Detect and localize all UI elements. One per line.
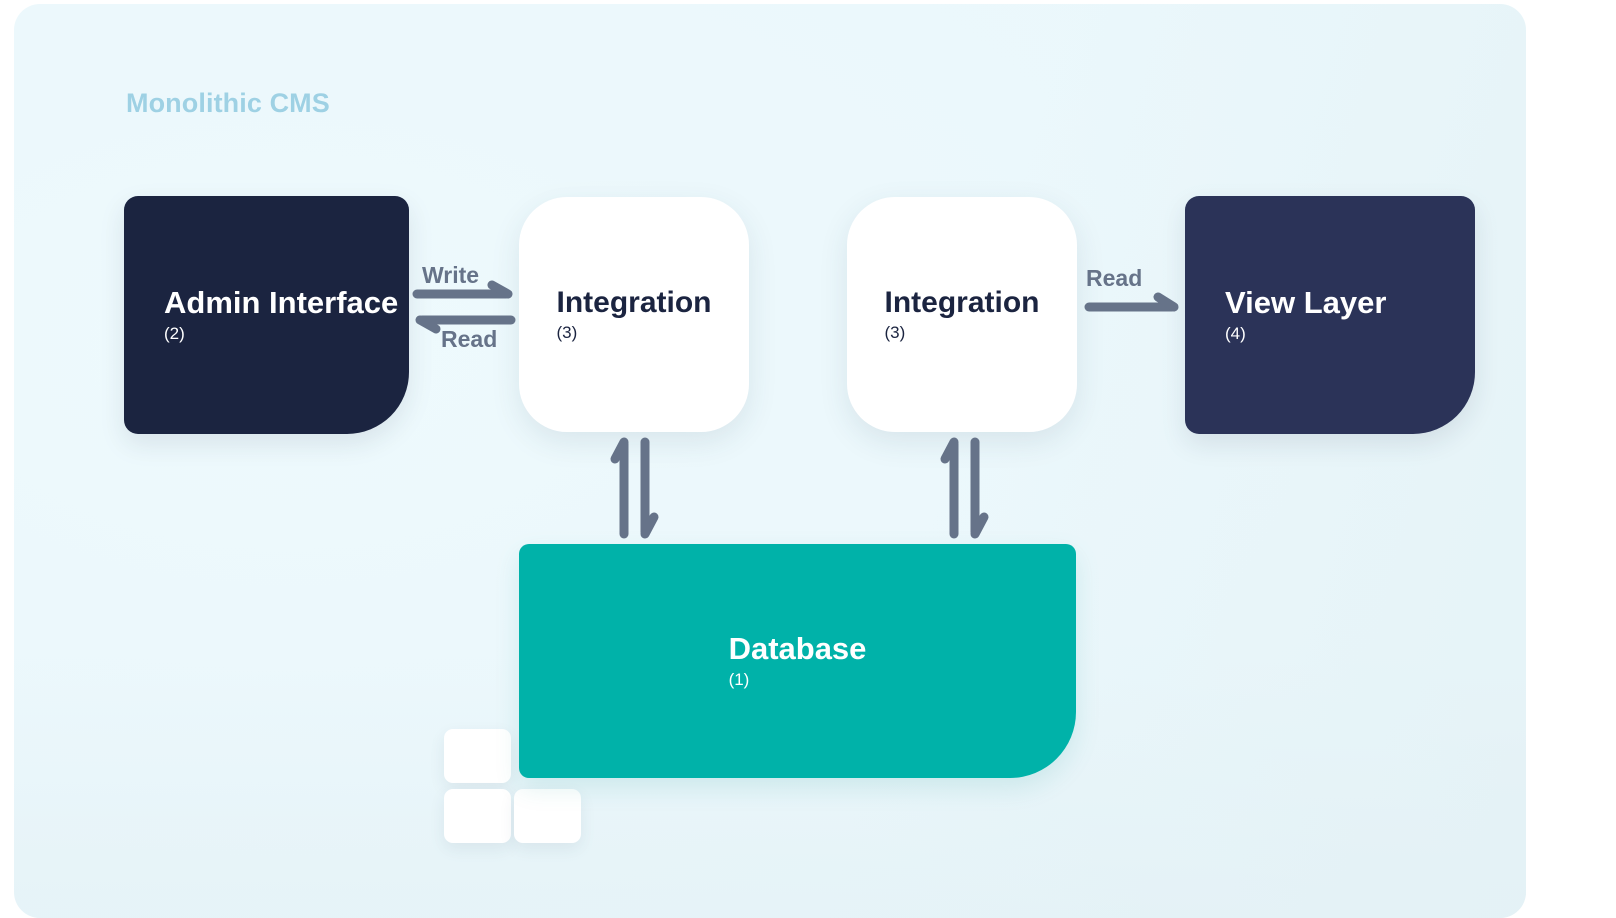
node-database-title: Database (729, 632, 867, 667)
node-database[interactable]: Database (1) (519, 544, 1076, 778)
decorative-tile (444, 789, 511, 843)
node-integration-a-count: (3) (557, 323, 712, 343)
node-admin-interface-title: Admin Interface (164, 286, 398, 321)
decorative-tile (444, 729, 511, 783)
node-admin-interface-body: Admin Interface (2) (164, 286, 398, 344)
diagram-panel: Monolithic CMS Admin Interface (2) Integ… (14, 4, 1526, 918)
node-database-count: (1) (729, 670, 867, 690)
node-integration-b-body: Integration (3) (885, 286, 1040, 343)
node-view-layer-title: View Layer (1225, 286, 1386, 321)
node-view-layer-count: (4) (1225, 324, 1386, 344)
edge-integration-b-view-layer (1084, 292, 1184, 322)
node-view-layer-body: View Layer (4) (1225, 286, 1386, 344)
edge-integration-b-database (944, 436, 990, 540)
node-integration-b[interactable]: Integration (3) (847, 197, 1077, 432)
node-admin-interface[interactable]: Admin Interface (2) (124, 196, 409, 434)
node-integration-a-body: Integration (3) (557, 286, 712, 343)
node-integration-b-count: (3) (885, 323, 1040, 343)
node-integration-a[interactable]: Integration (3) (519, 197, 749, 432)
node-integration-a-title: Integration (557, 286, 712, 320)
group-title: Monolithic CMS (126, 88, 330, 119)
edge-integration-a-database (614, 436, 660, 540)
node-database-body: Database (1) (729, 632, 867, 690)
edge-label-read-right: Read (1086, 265, 1142, 292)
edge-label-write: Write (422, 262, 479, 289)
node-admin-interface-count: (2) (164, 324, 398, 344)
decorative-tile (514, 789, 581, 843)
node-view-layer[interactable]: View Layer (4) (1185, 196, 1475, 434)
diagram-canvas: Monolithic CMS Admin Interface (2) Integ… (0, 0, 1616, 918)
edge-label-read-left: Read (441, 326, 497, 353)
node-integration-b-title: Integration (885, 286, 1040, 320)
